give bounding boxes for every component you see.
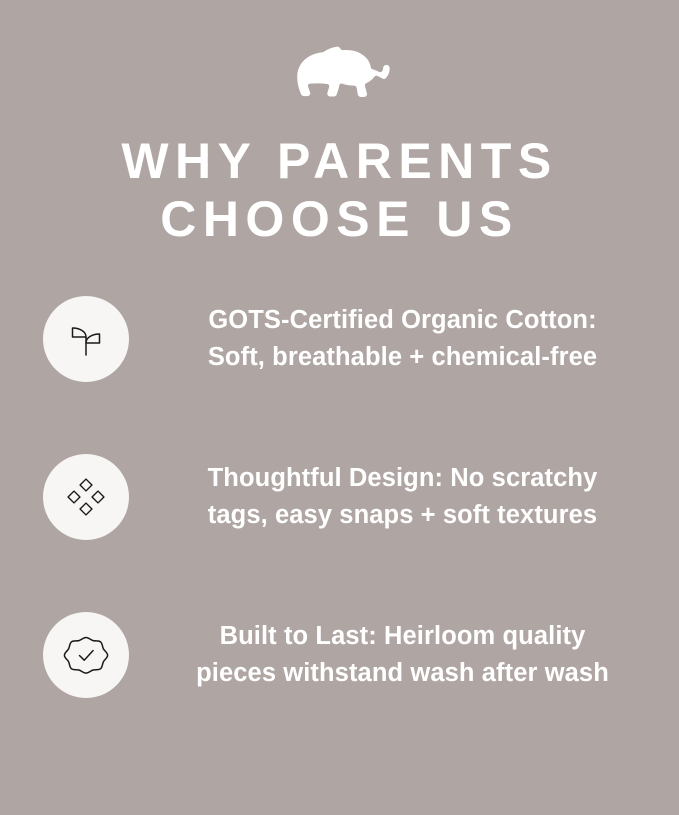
feature-line-2: pieces withstand wash after wash: [151, 655, 654, 692]
feature-item-built-to-last: Built to Last: Heirloom quality pieces w…: [0, 612, 679, 698]
feature-line-1: Built to Last: Heirloom quality: [151, 618, 654, 655]
feature-icon-badge: [43, 454, 129, 540]
feature-item-thoughtful-design: Thoughtful Design: No scratchy tags, eas…: [0, 454, 679, 540]
feature-icon-badge: [43, 296, 129, 382]
brand-logo: [288, 38, 392, 110]
feature-list: GOTS-Certified Organic Cotton: Soft, bre…: [0, 296, 679, 698]
headline-line-2: CHOOSE US: [0, 190, 679, 248]
four-diamonds-icon: [63, 474, 109, 520]
feature-text: Built to Last: Heirloom quality pieces w…: [129, 618, 679, 692]
page-title: WHY PARENTS CHOOSE US: [0, 132, 679, 248]
scalloped-badge-check-icon: [62, 631, 110, 679]
sprout-leaf-icon: [63, 316, 109, 362]
headline-line-1: WHY PARENTS: [0, 132, 679, 190]
feature-line-1: Thoughtful Design: No scratchy: [151, 460, 654, 497]
feature-icon-badge: [43, 612, 129, 698]
feature-line-2: tags, easy snaps + soft textures: [151, 497, 654, 534]
feature-line-1: GOTS-Certified Organic Cotton:: [151, 302, 654, 339]
feature-item-organic-cotton: GOTS-Certified Organic Cotton: Soft, bre…: [0, 296, 679, 382]
feature-text: GOTS-Certified Organic Cotton: Soft, bre…: [129, 302, 679, 376]
why-parents-choose-us-panel: WHY PARENTS CHOOSE US GOTS-Certified Org…: [0, 0, 679, 815]
elephant-icon: [288, 41, 392, 107]
feature-line-2: Soft, breathable + chemical-free: [151, 339, 654, 376]
feature-text: Thoughtful Design: No scratchy tags, eas…: [129, 460, 679, 534]
